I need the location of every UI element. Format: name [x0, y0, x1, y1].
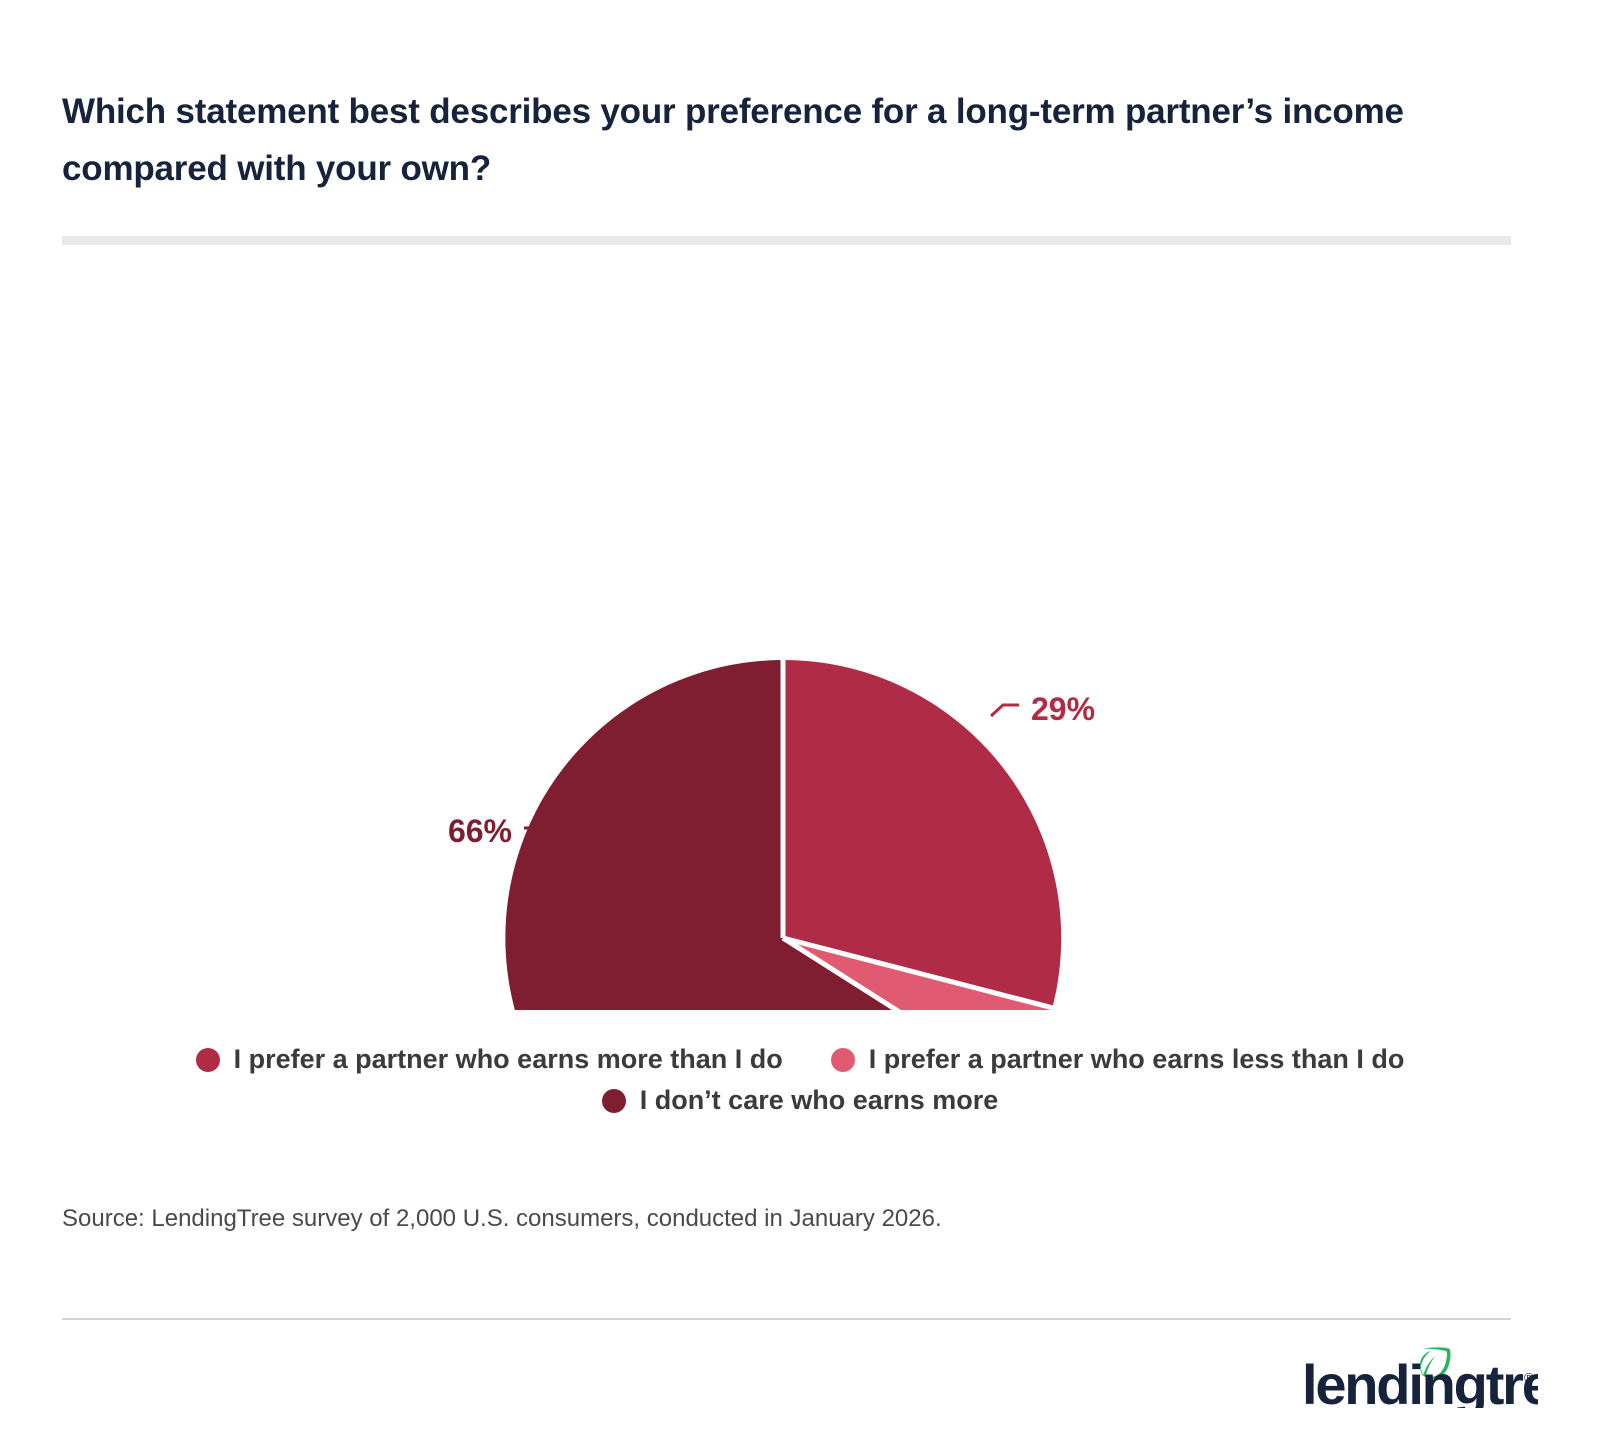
legend-row-1: I prefer a partner who earns more than I… [0, 1046, 1600, 1073]
title-block: Which statement best describes your pref… [62, 84, 1522, 197]
page-title: Which statement best describes your pref… [62, 84, 1522, 197]
footer-divider [62, 1318, 1511, 1320]
lendingtree-logo-svg: lendingtree ® [1302, 1346, 1538, 1408]
lendingtree-logo[interactable]: lendingtree ® [1302, 1348, 1538, 1408]
legend-label-less: I prefer a partner who earns less than I… [869, 1046, 1405, 1073]
legend-row-2: I don’t care who earns more [0, 1087, 1600, 1114]
chart-legend: I prefer a partner who earns more than I… [0, 1046, 1600, 1114]
leader-line-more [991, 705, 1019, 716]
pie-label-dontcare: 66% [448, 813, 512, 849]
legend-swatch-dontcare [602, 1089, 626, 1113]
legend-swatch-more [196, 1048, 220, 1072]
legend-swatch-less [831, 1048, 855, 1072]
legend-item-less[interactable]: I prefer a partner who earns less than I… [831, 1046, 1405, 1073]
header-divider [62, 236, 1511, 245]
legend-label-dontcare: I don’t care who earns more [640, 1087, 999, 1114]
chart-page: Which statement best describes your pref… [0, 0, 1600, 1446]
legend-label-more: I prefer a partner who earns more than I… [234, 1046, 783, 1073]
legend-item-more[interactable]: I prefer a partner who earns more than I… [196, 1046, 783, 1073]
pie-chart: 29% 5% 66% [0, 250, 1600, 1010]
source-note: Source: LendingTree survey of 2,000 U.S.… [62, 1203, 942, 1234]
logo-trademark: ® [1524, 1370, 1534, 1385]
pie-chart-svg: 29% 5% 66% [0, 250, 1600, 1010]
logo-wordmark: lendingtree [1302, 1353, 1538, 1408]
legend-item-dontcare[interactable]: I don’t care who earns more [602, 1087, 999, 1114]
pie-label-more: 29% [1031, 691, 1095, 727]
